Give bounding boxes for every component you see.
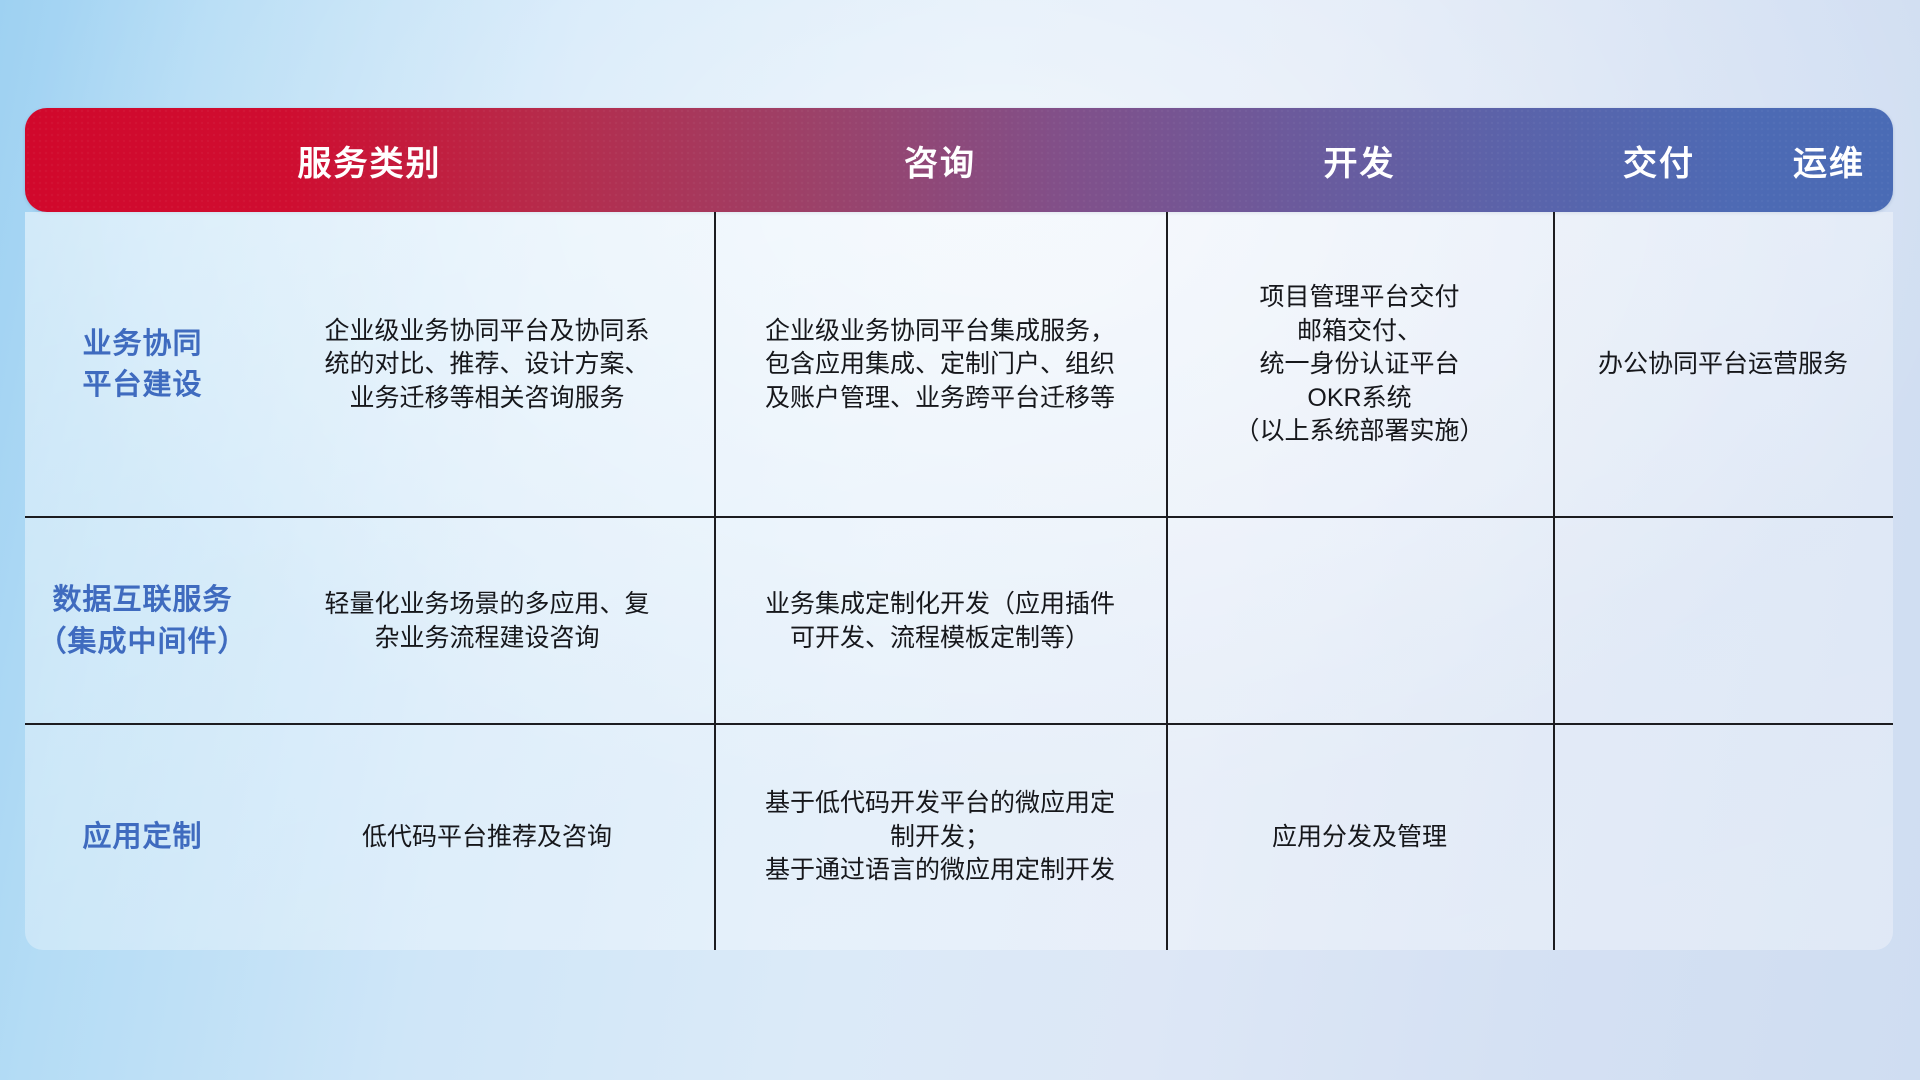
cell-category: 业务协同 平台建设	[25, 212, 260, 518]
cell-operations	[1553, 725, 1893, 950]
cell-operations: 办公协同平台运营服务	[1553, 212, 1893, 518]
cell-development: 业务集成定制化开发（应用插件 可开发、流程模板定制等）	[714, 518, 1166, 725]
cell-consulting: 企业级业务协同平台及协同系 统的对比、推荐、设计方案、 业务迁移等相关咨询服务	[260, 212, 714, 518]
cell-consulting: 轻量化业务场景的多应用、复 杂业务流程建设咨询	[260, 518, 714, 725]
cell-category: 应用定制	[25, 725, 260, 950]
cell-development: 基于低代码开发平台的微应用定 制开发； 基于通过语言的微应用定制开发	[714, 725, 1166, 950]
cell-delivery: 应用分发及管理	[1166, 725, 1553, 950]
cell-consulting: 低代码平台推荐及咨询	[260, 725, 714, 950]
table-body: 业务协同 平台建设 企业级业务协同平台及协同系 统的对比、推荐、设计方案、 业务…	[25, 212, 1893, 950]
column-header-delivery: 交付	[1553, 136, 1765, 185]
table-row[interactable]: 应用定制 低代码平台推荐及咨询 基于低代码开发平台的微应用定 制开发； 基于通过…	[25, 725, 1893, 950]
cell-delivery: 项目管理平台交付 邮箱交付、 统一身份认证平台 OKR系统 （以上系统部署实施）	[1166, 212, 1553, 518]
slide-canvas: 服务类别 咨询 开发 交付 运维 业务协同 平台建设 企业级业务协同平台及协同系…	[0, 0, 1920, 1080]
cell-development: 企业级业务协同平台集成服务， 包含应用集成、定制门户、组织 及账户管理、业务跨平…	[714, 212, 1166, 518]
column-header-service-category: 服务类别	[25, 136, 714, 185]
table-row[interactable]: 数据互联服务 （集成中间件） 轻量化业务场景的多应用、复 杂业务流程建设咨询 业…	[25, 518, 1893, 725]
cell-category: 数据互联服务 （集成中间件）	[25, 518, 260, 725]
table-row[interactable]: 业务协同 平台建设 企业级业务协同平台及协同系 统的对比、推荐、设计方案、 业务…	[25, 212, 1893, 518]
cell-operations	[1553, 518, 1893, 725]
service-matrix-table: 服务类别 咨询 开发 交付 运维 业务协同 平台建设 企业级业务协同平台及协同系…	[25, 108, 1893, 950]
column-header-operations: 运维	[1765, 136, 1893, 185]
cell-delivery	[1166, 518, 1553, 725]
table-header-row: 服务类别 咨询 开发 交付 运维	[25, 108, 1893, 212]
column-header-development: 开发	[1166, 136, 1553, 185]
column-header-consulting: 咨询	[714, 136, 1166, 185]
